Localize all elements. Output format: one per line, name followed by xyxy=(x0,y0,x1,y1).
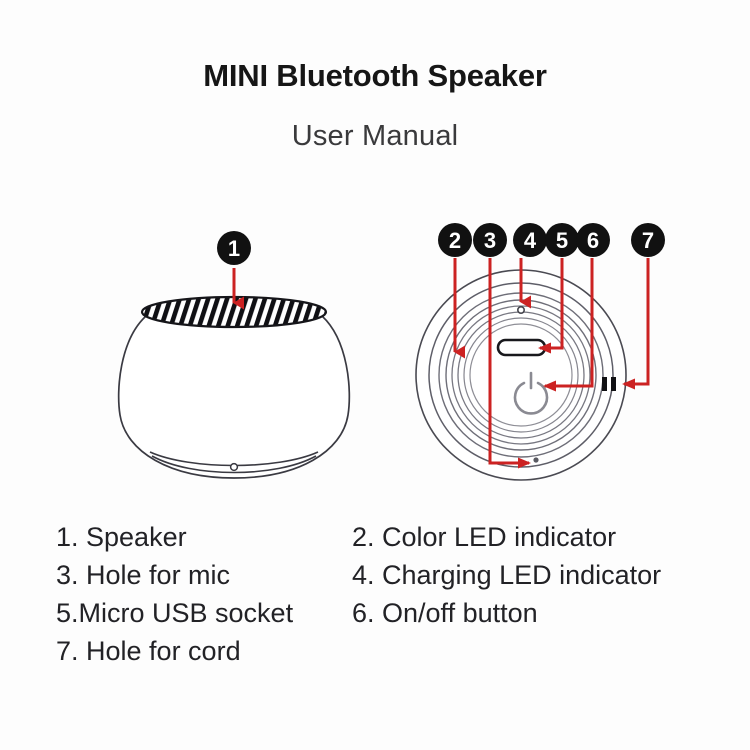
callout-badge-2-label: 2 xyxy=(449,228,461,253)
legend-row: 7. Hole for cord xyxy=(56,633,736,671)
callout-badge-7: 7 xyxy=(631,223,665,257)
legend-row: 3. Hole for mic 4. Charging LED indicato… xyxy=(56,557,736,595)
legend-item-7: 7. Hole for cord xyxy=(56,633,352,669)
callout-7-leader xyxy=(624,258,648,384)
legend-item-6: 6. On/off button xyxy=(352,595,736,631)
legend-item-2: 2. Color LED indicator xyxy=(352,519,736,555)
legend-item-1: 1. Speaker xyxy=(56,519,352,555)
callout-badge-4-label: 4 xyxy=(524,228,537,253)
speaker-side-view: 1 xyxy=(119,231,350,478)
hole-for-mic xyxy=(533,457,538,462)
legend-list: 1. Speaker 2. Color LED indicator 3. Hol… xyxy=(56,519,736,671)
callout-badge-6: 6 xyxy=(576,223,610,257)
callout-badge-5-label: 5 xyxy=(556,228,568,253)
callout-badge-2: 2 xyxy=(438,223,472,257)
micro-usb-socket xyxy=(498,340,545,355)
charging-led-indicator xyxy=(518,307,524,313)
callout-badge-3: 3 xyxy=(473,223,507,257)
legend-row: 1. Speaker 2. Color LED indicator xyxy=(56,519,736,557)
legend-item-3: 3. Hole for mic xyxy=(56,557,352,593)
manual-page: MINI Bluetooth Speaker User Manual xyxy=(0,0,750,750)
callout-badge-3-label: 3 xyxy=(484,228,496,253)
callout-badge-5: 5 xyxy=(545,223,579,257)
legend-item-5: 5.Micro USB socket xyxy=(56,595,352,631)
legend-row: 5.Micro USB socket 6. On/off button xyxy=(56,595,736,633)
speaker-base-mic-hole xyxy=(231,464,238,471)
speaker-bottom-view: 2 3 4 5 6 xyxy=(416,223,665,480)
callout-badge-7-label: 7 xyxy=(642,228,654,253)
callout-badge-1-label: 1 xyxy=(228,236,240,261)
callout-badge-4: 4 xyxy=(513,223,547,257)
legend-item-4: 4. Charging LED indicator xyxy=(352,557,736,593)
callout-badge-6-label: 6 xyxy=(587,228,599,253)
